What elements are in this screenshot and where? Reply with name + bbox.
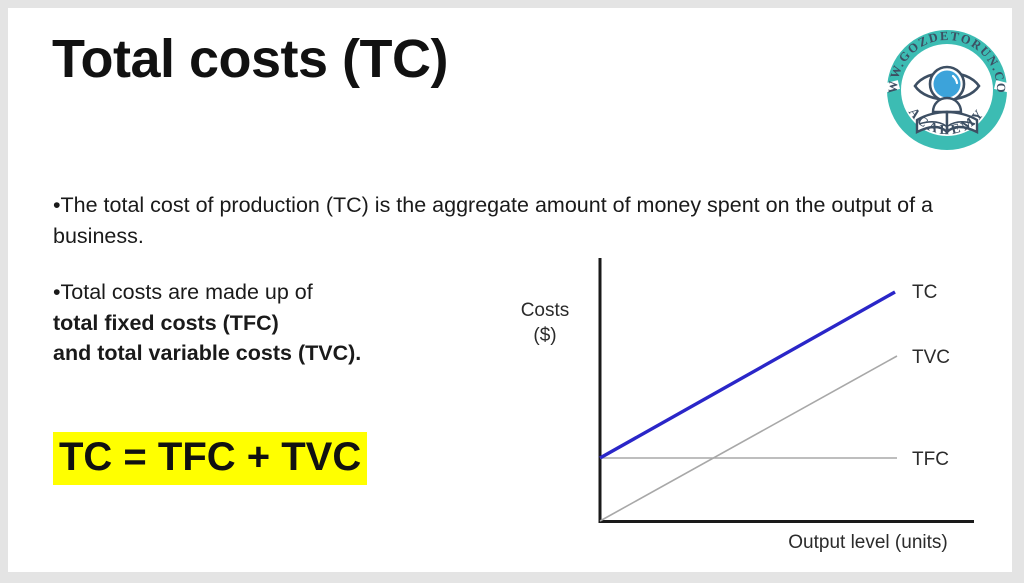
bullet-two: •Total costs are made up of total fixed … [53,277,473,369]
page-title: Total costs (TC) [52,30,448,89]
bullet-two-bold-line-2: and total variable costs (TVC). [53,338,473,369]
x-axis-label: Output level (units) [788,532,947,553]
gozdetorun-academy-logo: WWW.GOZDETORUN.COM ACADEMY [877,20,1017,160]
y-axis-label-line-1: Costs [521,300,570,321]
formula-highlight: TC = TFC + TVC [53,432,367,485]
y-axis-label-line-2: ($) [533,325,556,346]
series-label-tvc: TVC [912,347,950,368]
slide-canvas: Total costs (TC) [8,8,1012,572]
series-label-tc: TC [912,282,937,303]
formula-container: TC = TFC + TVC [53,432,367,485]
series-label-tfc: TFC [912,449,949,470]
series-line-tvc [600,356,897,521]
iris-icon [934,71,961,98]
bullet-two-lead: •Total costs are made up of [53,277,473,308]
series-line-tc [600,292,895,458]
total-costs-chart: TC TVC TFC Costs ($) Output level (units… [493,246,1013,566]
bullet-one: •The total cost of production (TC) is th… [53,190,968,251]
bullet-two-bold-line-1: total fixed costs (TFC) [53,308,473,339]
